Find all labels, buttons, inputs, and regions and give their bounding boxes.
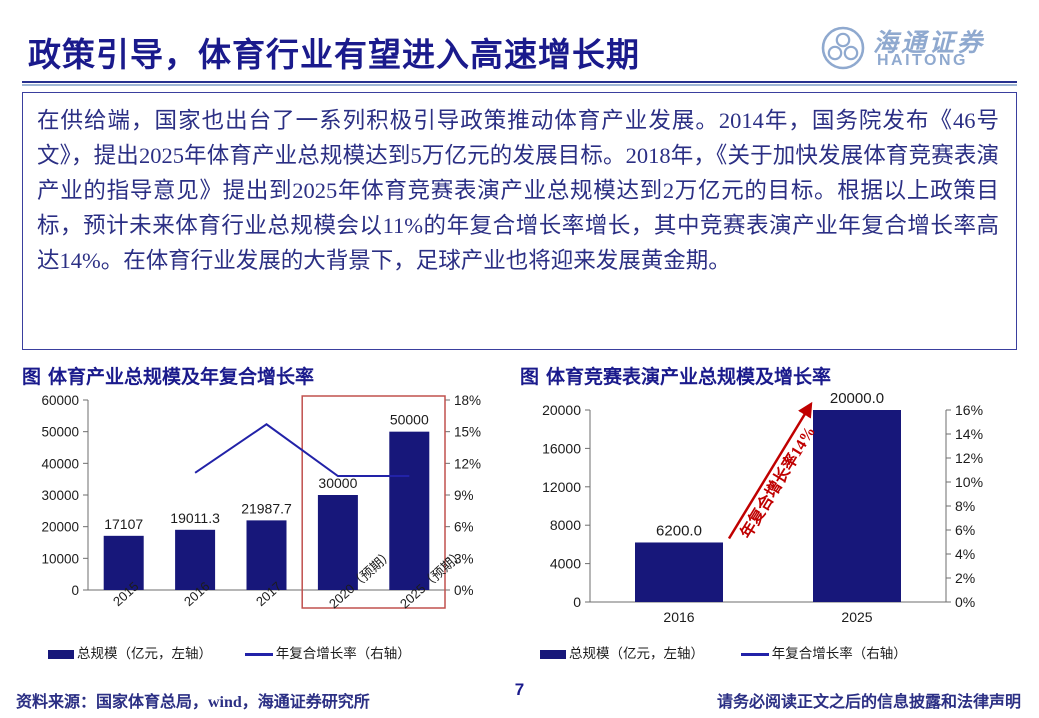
y-axis-tick: 20000 bbox=[41, 520, 79, 535]
chart-left-title-text: 体育产业总规模及年复合增长率 bbox=[48, 367, 314, 388]
legend-bar-label-2: 总规模（亿元，左轴） bbox=[569, 646, 704, 661]
y2-axis-tick: 16% bbox=[955, 402, 983, 418]
y-axis-tick: 40000 bbox=[41, 456, 79, 471]
page-title: 政策引导，体育行业有望进入高速增长期 bbox=[28, 28, 640, 76]
bar bbox=[104, 536, 144, 590]
y-axis-tick: 16000 bbox=[542, 440, 581, 456]
y2-axis-tick: 15% bbox=[454, 425, 481, 440]
y-axis-tick: 4000 bbox=[550, 556, 581, 572]
chart-right-title-text: 体育竞赛表演产业总规模及增长率 bbox=[546, 367, 831, 388]
bar bbox=[175, 530, 215, 590]
y2-axis-tick: 9% bbox=[454, 488, 474, 503]
y-axis-tick: 0 bbox=[71, 583, 79, 598]
legend-bar-label: 总规模（亿元，左轴） bbox=[77, 646, 212, 661]
chart-right-title: 图体育竞赛表演产业总规模及增长率 bbox=[520, 362, 831, 389]
y-axis-tick: 50000 bbox=[41, 425, 79, 440]
y-axis-tick: 8000 bbox=[550, 517, 581, 533]
bar bbox=[635, 542, 723, 602]
y2-axis-tick: 4% bbox=[955, 546, 975, 562]
bar-value-label: 30000 bbox=[318, 475, 357, 491]
y2-axis-tick: 6% bbox=[454, 520, 474, 535]
bar-value-label: 17107 bbox=[104, 516, 143, 532]
bar bbox=[389, 432, 429, 590]
y2-axis-tick: 14% bbox=[955, 426, 983, 442]
chart-left-legend: 总规模（亿元，左轴） 年复合增长率（右轴） bbox=[48, 642, 411, 662]
legend-line-swatch-2 bbox=[741, 653, 769, 656]
y2-axis-tick: 6% bbox=[955, 522, 975, 538]
bar-value-label: 19011.3 bbox=[170, 510, 220, 526]
y-axis-tick: 10000 bbox=[41, 551, 79, 566]
y2-axis-tick: 10% bbox=[955, 474, 983, 490]
y2-axis-tick: 18% bbox=[454, 393, 481, 408]
y2-axis-tick: 0% bbox=[454, 583, 474, 598]
y-axis-tick: 20000 bbox=[542, 402, 581, 418]
x-axis-label: 2025 bbox=[807, 609, 907, 625]
haitong-emblem-icon bbox=[821, 26, 865, 70]
slide-header: 政策引导，体育行业有望进入高速增长期 海通证券 HAITONG bbox=[0, 0, 1039, 88]
y-axis-tick: 60000 bbox=[41, 393, 79, 408]
x-axis-label: 2016 bbox=[629, 609, 729, 625]
haitong-logo: 海通证券 HAITONG bbox=[821, 24, 1021, 76]
chart-sports-industry-scale: 图体育产业总规模及年复合增长率 010000200003000040000500… bbox=[14, 360, 509, 680]
y2-axis-tick: 12% bbox=[454, 456, 481, 471]
legend-line-swatch bbox=[245, 653, 273, 656]
bar-value-label: 21987.7 bbox=[241, 500, 292, 516]
header-divider-dark bbox=[22, 81, 1017, 83]
y-axis-tick: 12000 bbox=[542, 479, 581, 495]
y-axis-tick: 0 bbox=[573, 594, 581, 610]
chart-tag-label: 图 bbox=[22, 367, 41, 388]
bar-value-label: 20000.0 bbox=[830, 390, 884, 407]
legend-line-label-2: 年复合增长率（右轴） bbox=[772, 646, 907, 661]
bar-value-label: 50000 bbox=[390, 412, 429, 428]
legend-line-label: 年复合增长率（右轴） bbox=[276, 646, 411, 661]
chart-competition-performance-scale: 图体育竞赛表演产业总规模及增长率 04000800012000160002000… bbox=[512, 360, 1032, 680]
logo-english-name: HAITONG bbox=[877, 52, 968, 70]
footer-disclaimer: 请务必阅读正文之后的信息披露和法律声明 bbox=[717, 688, 1021, 712]
bar-value-label: 6200.0 bbox=[656, 522, 702, 539]
y2-axis-tick: 8% bbox=[955, 498, 975, 514]
chart-tag-label-2: 图 bbox=[520, 367, 539, 388]
bar bbox=[813, 410, 901, 602]
y2-axis-tick: 2% bbox=[955, 570, 975, 586]
legend-bar-swatch-2 bbox=[540, 650, 566, 659]
y2-axis-tick: 0% bbox=[955, 594, 975, 610]
bar bbox=[247, 520, 287, 590]
legend-bar-swatch bbox=[48, 650, 74, 659]
y2-axis-tick: 12% bbox=[955, 450, 983, 466]
chart-right-legend: 总规模（亿元，左轴） 年复合增长率（右轴） bbox=[540, 642, 907, 662]
chart-left-title: 图体育产业总规模及年复合增长率 bbox=[22, 362, 314, 389]
body-paragraph: 在供给端，国家也出台了一系列积极引导政策推动体育产业发展。2014年，国务院发布… bbox=[37, 103, 999, 278]
body-text-box: 在供给端，国家也出台了一系列积极引导政策推动体育产业发展。2014年，国务院发布… bbox=[22, 92, 1017, 350]
header-divider-light bbox=[22, 84, 1017, 86]
y-axis-tick: 30000 bbox=[41, 488, 79, 503]
